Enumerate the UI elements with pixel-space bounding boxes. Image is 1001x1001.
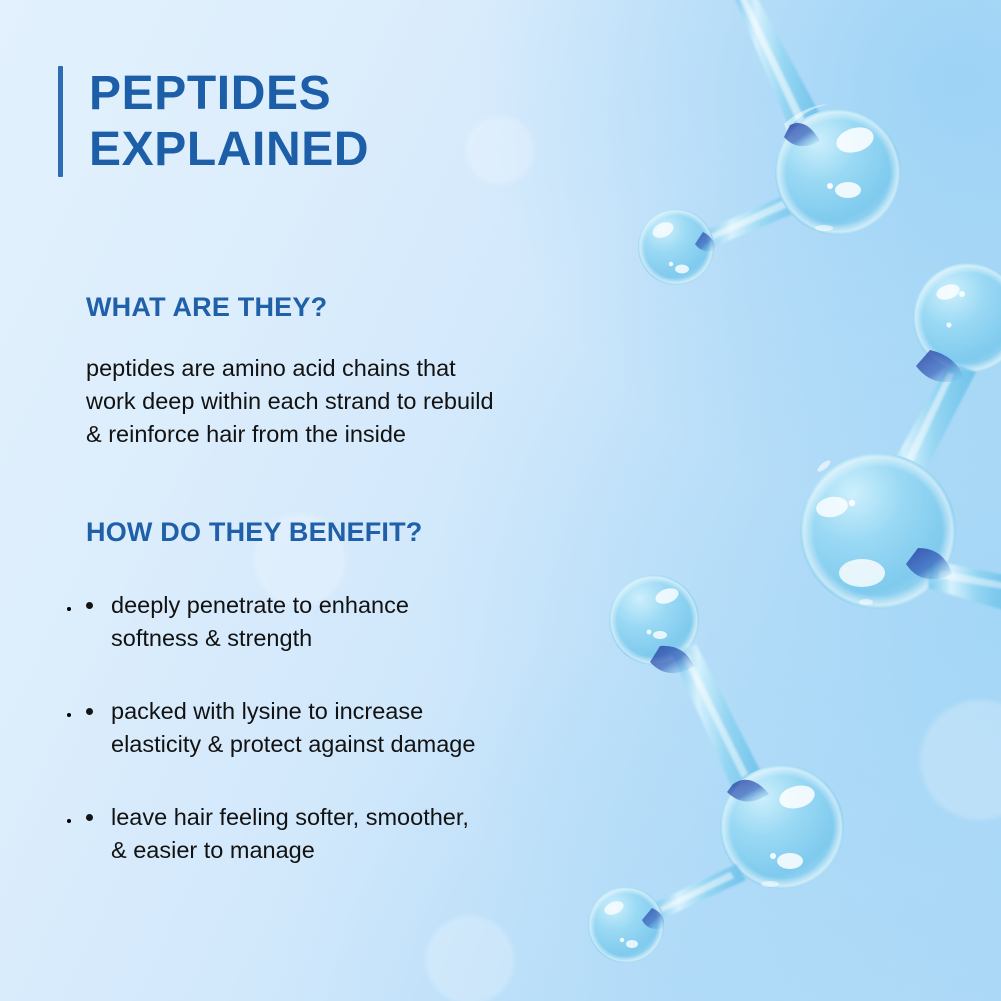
list-item: packed with lysine to increase elasticit… — [82, 695, 637, 761]
list-item: deeply penetrate to enhance softness & s… — [82, 589, 637, 655]
section-heading-what-are-they: WHAT ARE THEY? — [86, 292, 327, 323]
bullet-dot-icon — [86, 708, 93, 715]
title-accent-bar — [58, 66, 63, 177]
section-heading-how-do-they-benefit: HOW DO THEY BENEFIT? — [86, 517, 423, 548]
list-item-label: leave hair feeling softer, smoother, & e… — [111, 804, 469, 863]
list-item: leave hair feeling softer, smoother, & e… — [82, 801, 637, 867]
list-item-label: deeply penetrate to enhance softness & s… — [111, 592, 409, 651]
benefit-bullet-list: deeply penetrate to enhance softness & s… — [82, 589, 637, 867]
bullet-dot-icon — [86, 602, 93, 609]
bullet-dot-icon — [86, 814, 93, 821]
section-paragraph-what-are-they: peptides are amino acid chains that work… — [86, 352, 631, 451]
content-column: PEPTIDES EXPLAINED WHAT ARE THEY? peptid… — [0, 0, 640, 1001]
infographic-canvas: PEPTIDES EXPLAINED WHAT ARE THEY? peptid… — [0, 0, 1001, 1001]
page-title-text: PEPTIDES EXPLAINED — [89, 66, 369, 177]
page-title: PEPTIDES EXPLAINED — [58, 66, 369, 177]
list-item-label: packed with lysine to increase elasticit… — [111, 698, 475, 757]
